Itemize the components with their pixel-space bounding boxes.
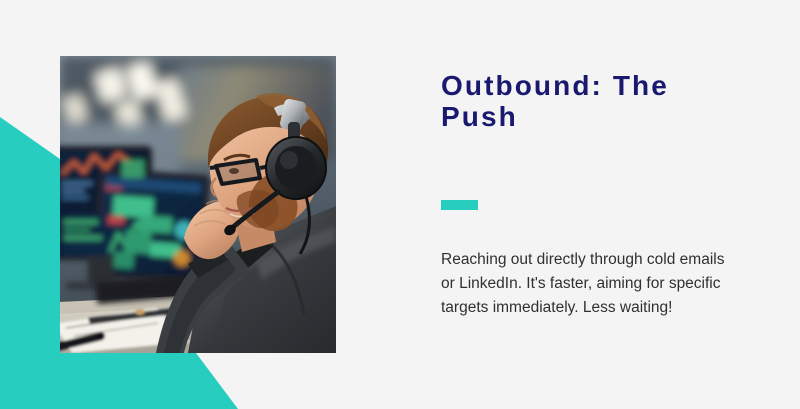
page-title: Outbound: The Push [441, 70, 691, 133]
body-paragraph: Reaching out directly through cold email… [441, 248, 727, 320]
hero-photo-image [60, 56, 336, 353]
text-content: Outbound: The Push Reaching out directly… [441, 70, 731, 320]
hero-photo [60, 56, 336, 353]
slide-canvas: Outbound: The Push Reaching out directly… [0, 0, 800, 409]
accent-divider [441, 200, 478, 210]
